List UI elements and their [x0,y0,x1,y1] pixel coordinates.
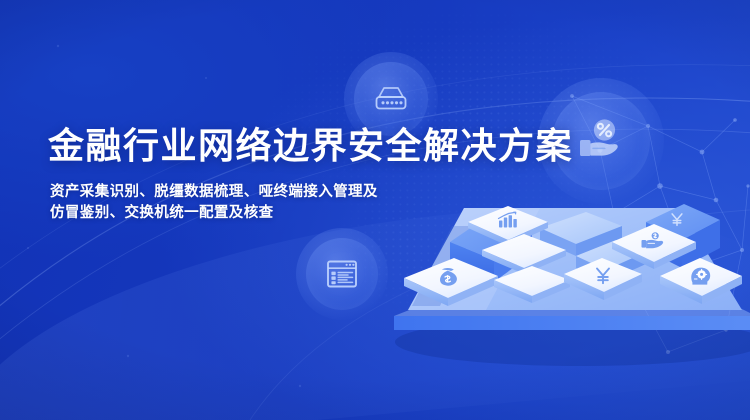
badge-document-list [296,228,388,320]
page-subtitle: 资产采集识别、脱缰数据梳理、哑终端接入管理及 仿冒鉴别、交换机统一配置及核查 [50,182,573,224]
banner-root: 金融行业网络边界安全解决方案 资产采集识别、脱缰数据梳理、哑终端接入管理及 仿冒… [0,0,750,420]
hand-percent-icon [569,109,633,173]
page-subtitle-line1: 资产采集识别、脱缰数据梳理、哑终端接入管理及 [50,182,573,203]
banner-copy: 金融行业网络边界安全解决方案 资产采集识别、脱缰数据梳理、哑终端接入管理及 仿冒… [48,124,573,224]
page-title: 金融行业网络边界安全解决方案 [48,124,573,168]
document-list-icon [320,252,364,296]
page-subtitle-line2: 仿冒鉴别、交换机统一配置及核查 [50,203,573,224]
network-switch-icon [368,76,414,122]
